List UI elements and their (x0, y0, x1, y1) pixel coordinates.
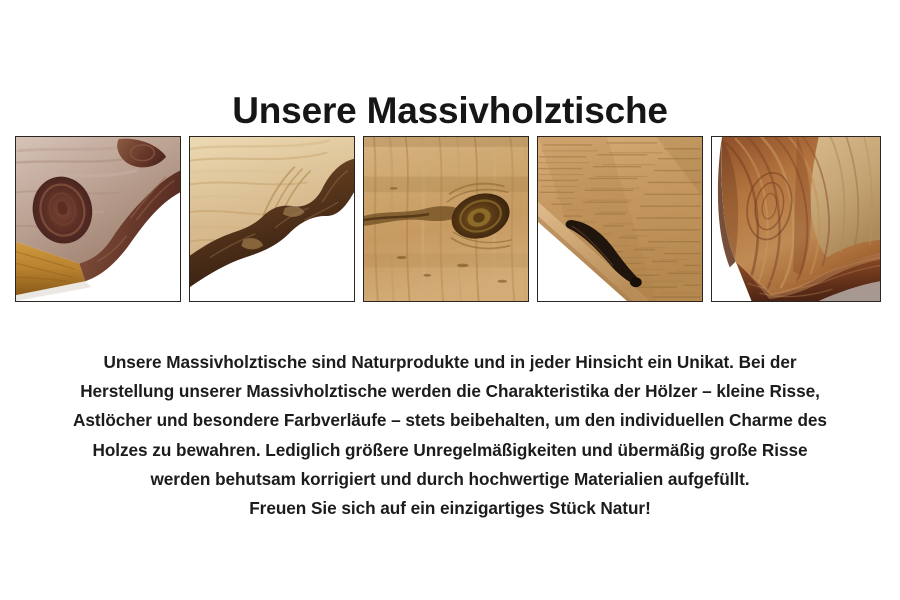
description-line: Holzes zu bewahren. Lediglich größere Un… (28, 436, 872, 465)
description-line: Astlöcher und besondere Farbverläufe – s… (28, 406, 872, 435)
description-line: Freuen Sie sich auf ein einzigartiges St… (28, 494, 872, 523)
wood-slab-light-natural-edge-image (190, 137, 354, 301)
gallery-item-wood-slab-light-natural-edge[interactable] (189, 136, 355, 302)
description-line: Unsere Massivholztische sind Naturproduk… (28, 348, 872, 377)
promo-page: Unsere Massivholztische (0, 0, 900, 600)
description-paragraph: Unsere Massivholztische sind Naturproduk… (28, 348, 872, 523)
wood-gallery (15, 136, 885, 302)
sheesham-slab-corner-image (712, 137, 880, 301)
gallery-item-rough-sawn-board-with-crack[interactable] (537, 136, 703, 302)
description-line: werden behutsam korrigiert und durch hoc… (28, 465, 872, 494)
page-title: Unsere Massivholztische (0, 91, 900, 132)
wood-grain-knot-closeup-image (364, 137, 528, 301)
gallery-item-wood-slab-corner-dark-knot[interactable] (15, 136, 181, 302)
description-line: Herstellung unserer Massivholztische wer… (28, 377, 872, 406)
gallery-item-sheesham-slab-corner[interactable] (711, 136, 881, 302)
rough-sawn-board-with-crack-image (538, 137, 702, 301)
gallery-item-wood-grain-knot-closeup[interactable] (363, 136, 529, 302)
wood-slab-corner-dark-knot-image (16, 137, 180, 301)
